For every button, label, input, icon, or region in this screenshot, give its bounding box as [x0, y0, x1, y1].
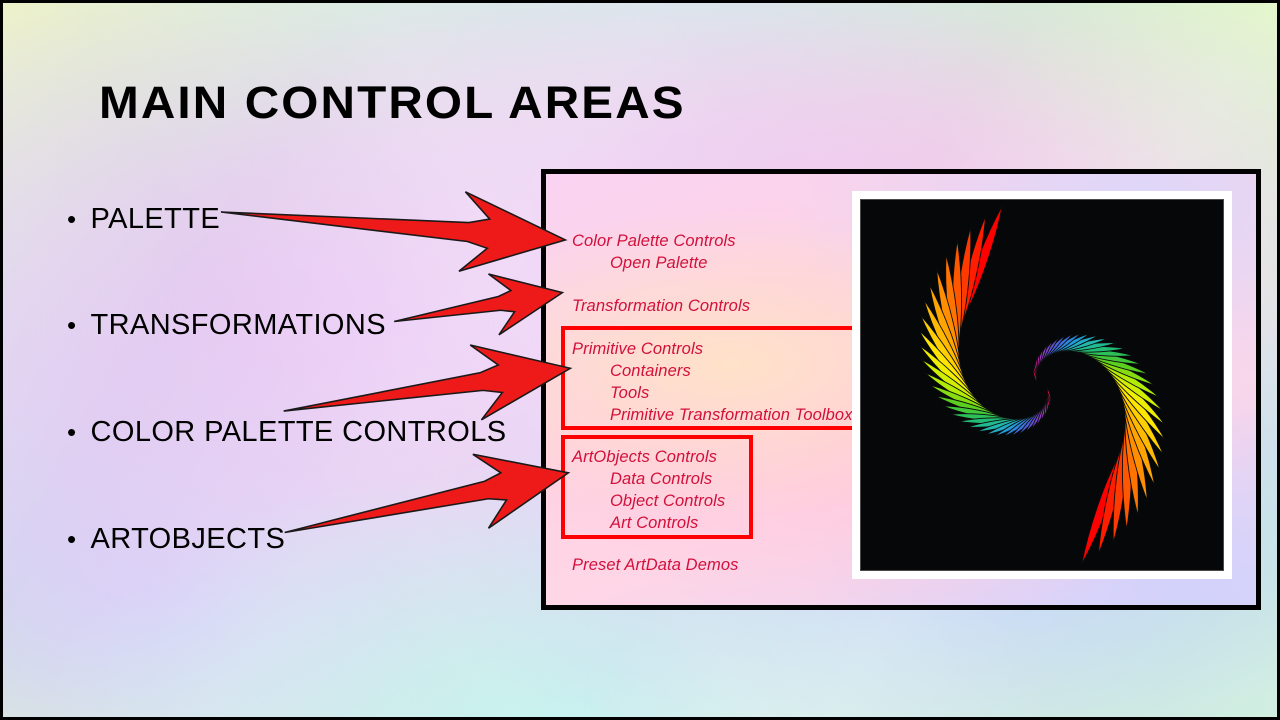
page-title: MAIN CONTROL AREAS	[99, 77, 686, 129]
panel-entry-artobjects-controls[interactable]: ArtObjects Controls	[572, 448, 717, 467]
panel-entry-containers[interactable]: Containers	[572, 362, 691, 381]
bullet-label: TRANSFORMATIONS	[91, 309, 386, 342]
bullet-label: COLOR PALETTE CONTROLS	[91, 416, 507, 449]
panel-entry-primitive-controls[interactable]: Primitive Controls	[572, 340, 703, 359]
bullet-label: PALETTE	[91, 203, 221, 236]
bullet-label: ARTOBJECTS	[91, 523, 286, 556]
panel-entry-color-palette-controls[interactable]: Color Palette Controls	[572, 232, 736, 251]
spiral-wing	[916, 204, 1052, 439]
presentation-slide: MAIN CONTROL AREAS • PALETTE • TRANSFORM…	[0, 0, 1280, 720]
bullet-marker-icon: •	[67, 312, 77, 338]
rainbow-double-spiral-icon	[860, 199, 1224, 571]
panel-entry-primitive-transformation-toolbox[interactable]: Primitive Transformation Toolbox	[572, 406, 853, 425]
artwork-canvas	[860, 199, 1224, 571]
artwork-frame	[852, 191, 1232, 579]
bullet-item-palette: • PALETTE	[67, 203, 220, 236]
panel-entry-art-controls[interactable]: Art Controls	[572, 514, 698, 533]
panel-entry-transformation-controls[interactable]: Transformation Controls	[572, 297, 750, 316]
bullet-marker-icon: •	[67, 419, 77, 445]
panel-entry-object-controls[interactable]: Object Controls	[572, 492, 725, 511]
bullet-item-artobjects: • ARTOBJECTS	[67, 523, 285, 556]
bullet-marker-icon: •	[67, 206, 77, 232]
spiral-wing	[1032, 331, 1168, 566]
bullet-item-color-palette-controls: • COLOR PALETTE CONTROLS	[67, 416, 506, 449]
panel-entry-preset-artdata-demos[interactable]: Preset ArtData Demos	[572, 556, 738, 575]
bullet-item-transformations: • TRANSFORMATIONS	[67, 309, 386, 342]
panel-entry-data-controls[interactable]: Data Controls	[572, 470, 712, 489]
bullet-marker-icon: •	[67, 526, 77, 552]
panel-entry-tools[interactable]: Tools	[572, 384, 649, 403]
panel-entry-open-palette[interactable]: Open Palette	[572, 254, 708, 273]
